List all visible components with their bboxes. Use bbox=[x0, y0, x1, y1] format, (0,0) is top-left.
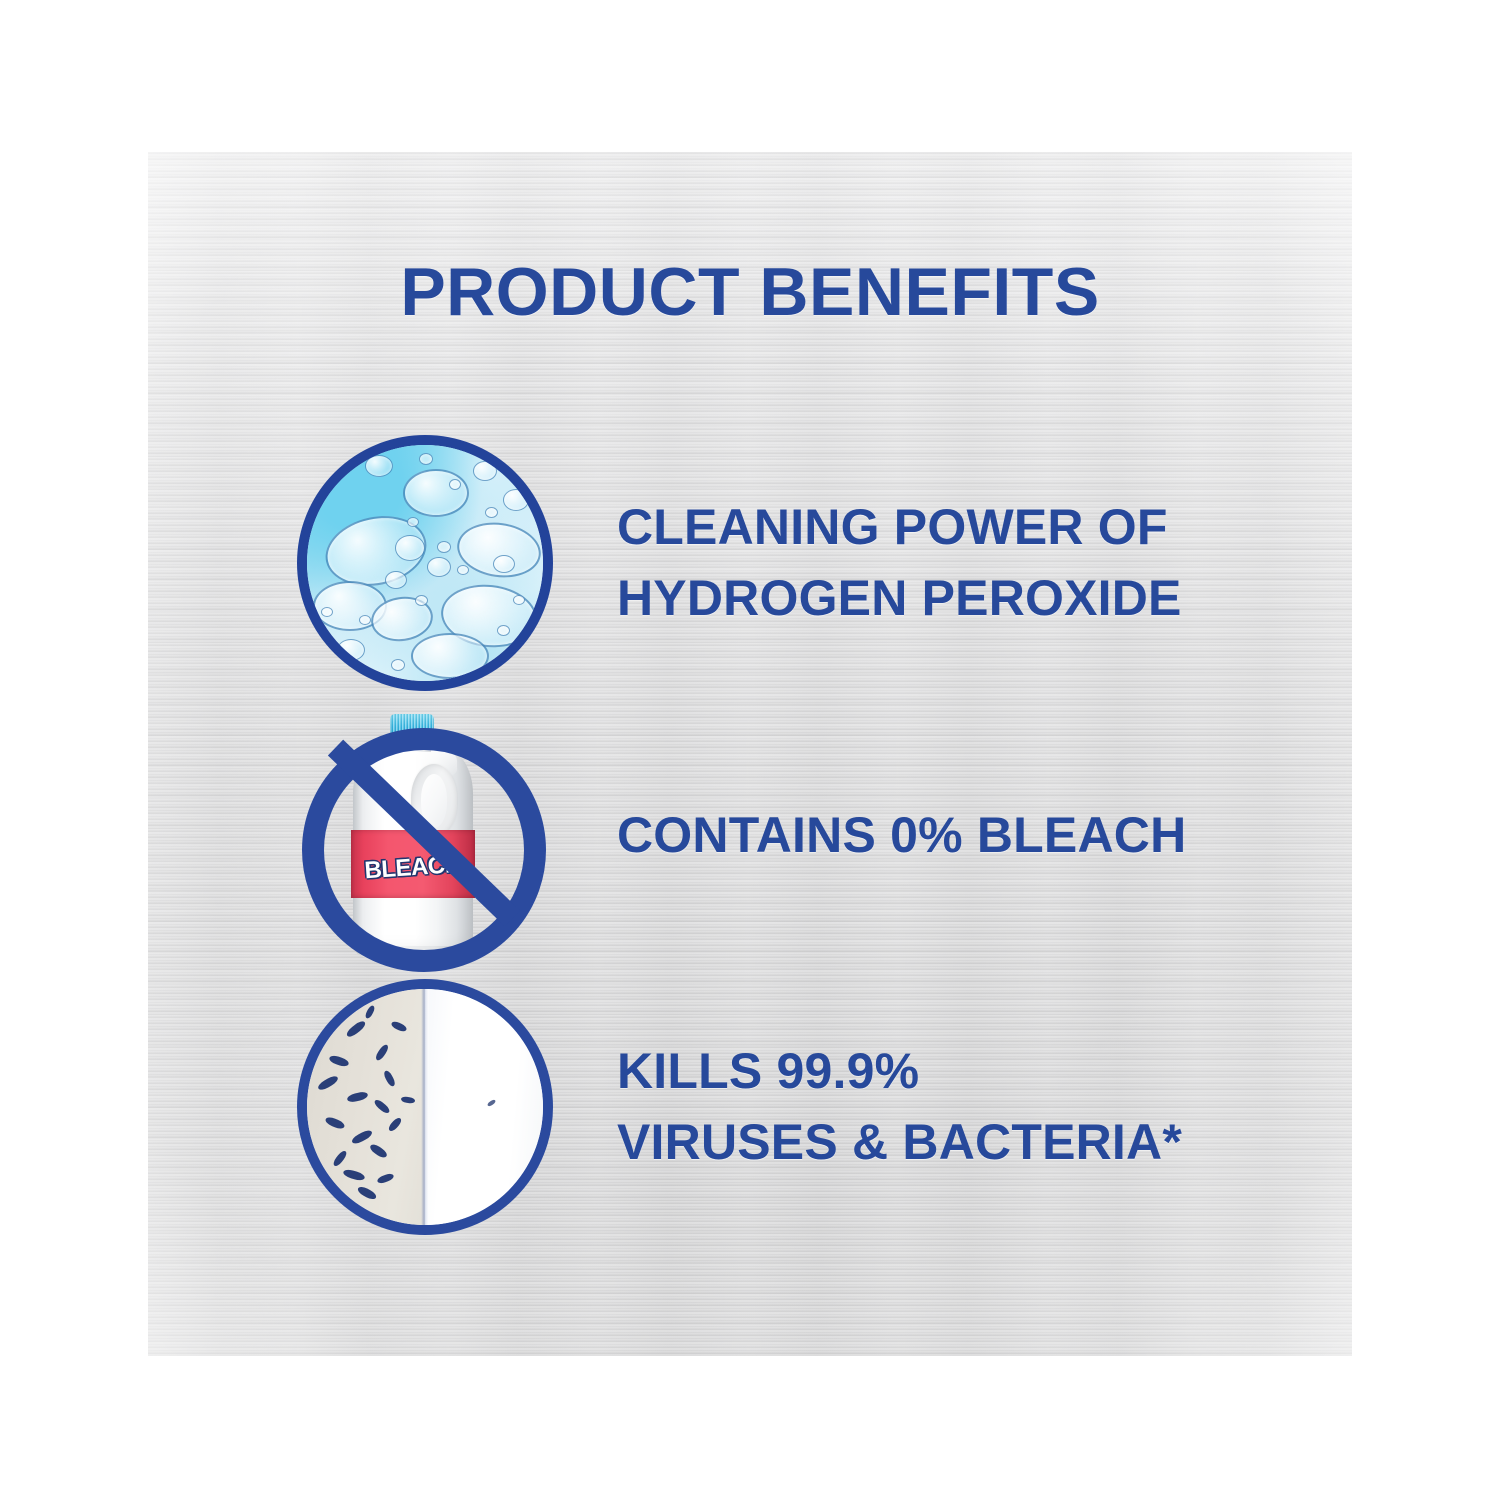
benefit-row-kills-germs: KILLS 99.9% VIRUSES & BACTERIA* bbox=[148, 972, 1352, 1242]
benefit-line: KILLS 99.9% bbox=[617, 1036, 1352, 1107]
benefit-icon-cell bbox=[148, 428, 552, 698]
infographic-canvas: PRODUCT BENEFITS bbox=[0, 0, 1500, 1500]
benefit-row-peroxide: CLEANING POWER OF HYDROGEN PEROXIDE bbox=[148, 428, 1352, 698]
bubbles-peroxide-icon bbox=[297, 435, 553, 691]
bacteria-before-after-icon bbox=[297, 979, 553, 1235]
benefit-line: VIRUSES & BACTERIA* bbox=[617, 1107, 1352, 1178]
page-title: PRODUCT BENEFITS bbox=[148, 258, 1352, 326]
clean-half bbox=[425, 989, 543, 1225]
benefit-text-kills-germs: KILLS 99.9% VIRUSES & BACTERIA* bbox=[617, 1036, 1352, 1178]
benefit-text-no-bleach: CONTAINS 0% BLEACH bbox=[617, 800, 1352, 871]
dirty-half bbox=[307, 989, 425, 1225]
benefit-icon-cell bbox=[148, 972, 552, 1242]
split-seam bbox=[422, 989, 429, 1225]
benefit-line: CONTAINS 0% BLEACH bbox=[617, 800, 1352, 871]
benefit-icon-cell: BLEACH bbox=[148, 700, 552, 970]
benefit-line: HYDROGEN PEROXIDE bbox=[617, 563, 1352, 634]
benefit-text-peroxide: CLEANING POWER OF HYDROGEN PEROXIDE bbox=[617, 492, 1352, 634]
benefit-row-no-bleach: BLEACH CONTAINS 0% BLEACH bbox=[148, 700, 1352, 970]
benefit-line: CLEANING POWER OF bbox=[617, 492, 1352, 563]
no-bleach-icon: BLEACH bbox=[297, 700, 533, 970]
